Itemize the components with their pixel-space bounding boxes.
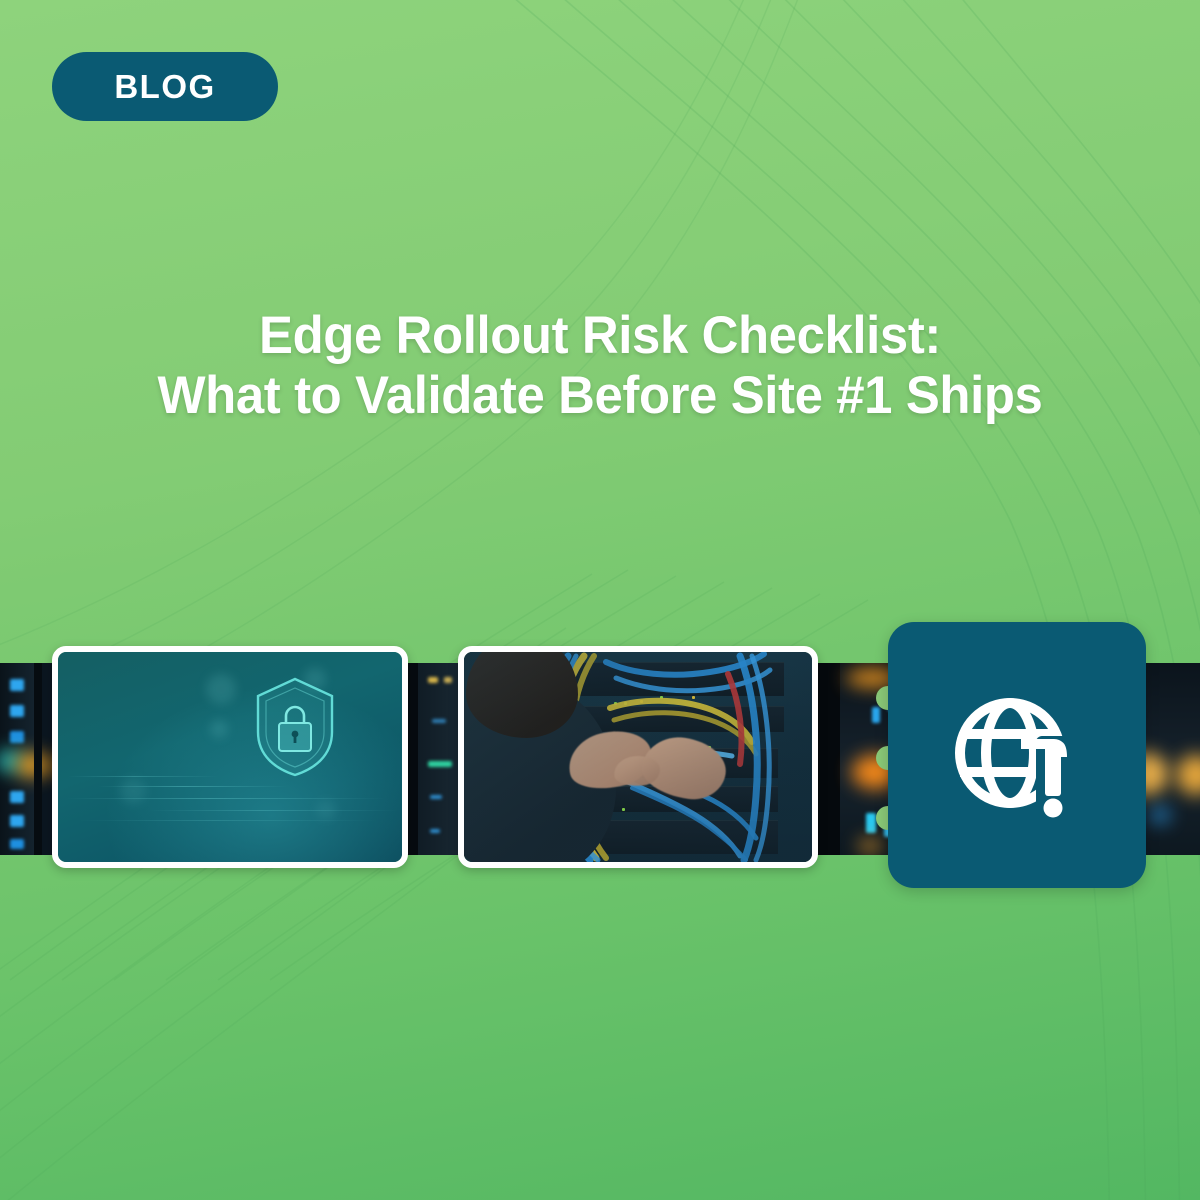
page-title-line-1: Edge Rollout Risk Checklist:: [82, 306, 1119, 366]
globe-alert-icon: [952, 692, 1082, 818]
thumbnail-image: [58, 652, 402, 862]
blog-badge-label: BLOG: [114, 68, 215, 106]
page-title: Edge Rollout Risk Checklist: What to Val…: [0, 306, 1200, 426]
security-shield-thumbnail[interactable]: [52, 646, 408, 868]
shield-lock-icon: [254, 676, 336, 778]
blog-badge[interactable]: BLOG: [52, 52, 278, 121]
thumbnail-image: [464, 652, 812, 862]
network-technician-thumbnail[interactable]: [458, 646, 818, 868]
blog-social-card: BLOG Edge Rollout Risk Checklist: What t…: [0, 0, 1200, 1200]
page-title-line-2: What to Validate Before Site #1 Ships: [82, 366, 1119, 426]
background-pattern: [0, 0, 1200, 1200]
globe-alert-card[interactable]: [888, 622, 1146, 888]
